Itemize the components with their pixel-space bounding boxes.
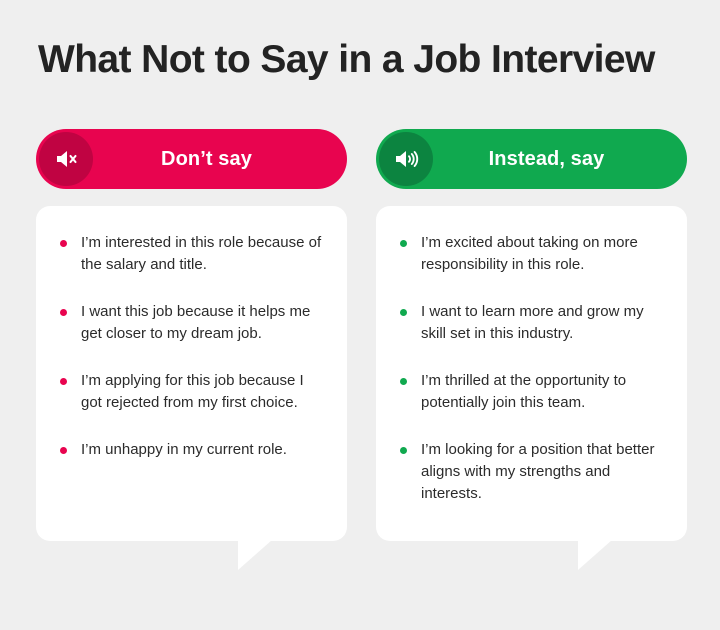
card-instead-say: I’m excited about taking on more respons…: [376, 206, 687, 541]
list-dont-say: I’m interested in this role because of t…: [58, 232, 325, 461]
list-item: I’m excited about taking on more respons…: [398, 232, 665, 276]
list-item: I’m looking for a position that better a…: [398, 439, 665, 505]
header-pill-dont-say: Don’t say: [36, 129, 347, 189]
speaker-muted-icon: [39, 132, 93, 186]
header-pill-instead-say: Instead, say: [376, 129, 687, 189]
bullet-icon: [60, 309, 67, 316]
card-dont-say: I’m interested in this role because of t…: [36, 206, 347, 541]
list-item-text: I’m looking for a position that better a…: [421, 441, 654, 502]
bullet-icon: [400, 378, 407, 385]
bullet-icon: [400, 240, 407, 247]
card-wrap-dont-say: I’m interested in this role because of t…: [36, 206, 347, 541]
list-item-text: I’m applying for this job because I got …: [81, 372, 304, 411]
list-item-text: I’m unhappy in my current role.: [81, 441, 287, 458]
speaker-on-icon: [379, 132, 433, 186]
list-item-text: I want to learn more and grow my skill s…: [421, 303, 644, 342]
list-item: I’m applying for this job because I got …: [58, 370, 325, 414]
speech-bubble-tail: [238, 540, 272, 570]
list-item: I want this job because it helps me get …: [58, 301, 325, 345]
bullet-icon: [400, 309, 407, 316]
list-item-text: I’m thrilled at the opportunity to poten…: [421, 372, 626, 411]
list-item: I want to learn more and grow my skill s…: [398, 301, 665, 345]
list-item: I’m unhappy in my current role.: [58, 439, 325, 461]
bullet-icon: [60, 378, 67, 385]
bullet-icon: [400, 447, 407, 454]
list-instead-say: I’m excited about taking on more respons…: [398, 232, 665, 505]
list-item-text: I want this job because it helps me get …: [81, 303, 310, 342]
column-dont-say: Don’t say I’m interested in this role be…: [36, 129, 347, 541]
list-item: I’m thrilled at the opportunity to poten…: [398, 370, 665, 414]
card-wrap-instead-say: I’m excited about taking on more respons…: [376, 206, 687, 541]
speech-bubble-tail: [578, 540, 612, 570]
infographic: What Not to Say in a Job Interview Don’t…: [0, 0, 720, 630]
page-title: What Not to Say in a Job Interview: [38, 36, 698, 84]
list-item-text: I’m interested in this role because of t…: [81, 234, 321, 273]
bullet-icon: [60, 447, 67, 454]
list-item: I’m interested in this role because of t…: [58, 232, 325, 276]
column-instead-say: Instead, say I’m excited about taking on…: [376, 129, 687, 541]
bullet-icon: [60, 240, 67, 247]
list-item-text: I’m excited about taking on more respons…: [421, 234, 638, 273]
